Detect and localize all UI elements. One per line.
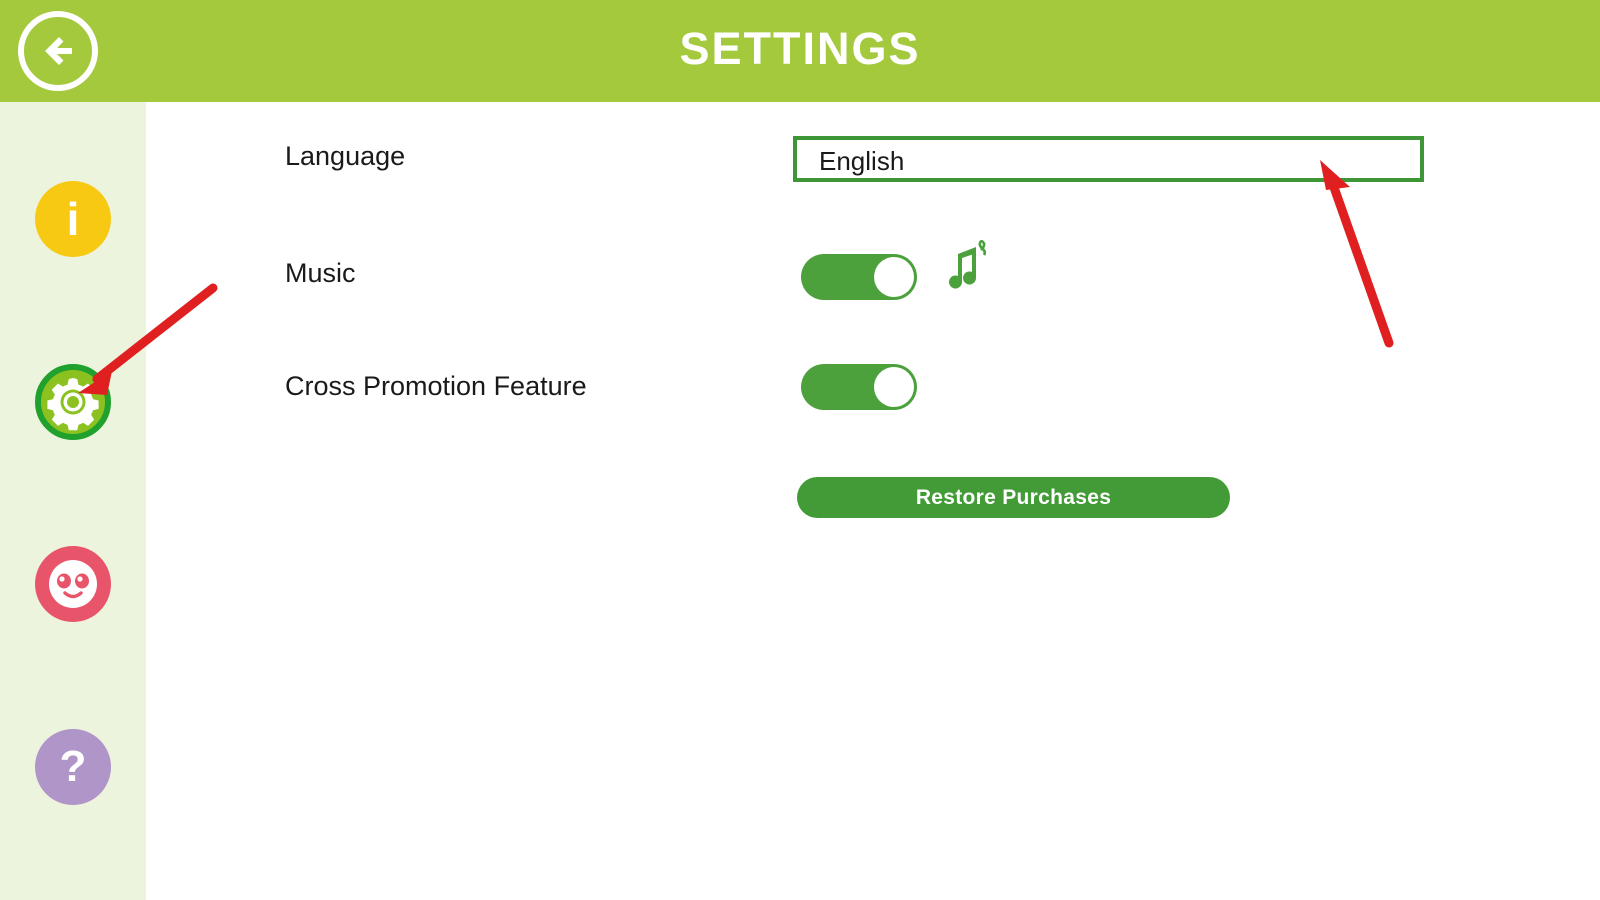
info-icon: i (35, 181, 111, 257)
sidebar-item-info[interactable]: i (29, 175, 117, 263)
page-title: SETTINGS (0, 23, 1600, 75)
language-select[interactable]: English (793, 136, 1424, 182)
cross-promotion-toggle[interactable] (801, 364, 917, 410)
sidebar-item-settings[interactable] (29, 358, 117, 446)
gear-icon (35, 364, 111, 440)
music-note-icon (934, 232, 998, 296)
question-mark-icon: ? (35, 729, 111, 805)
music-toggle-knob (874, 257, 914, 297)
language-value: English (819, 146, 904, 177)
cross-promotion-toggle-knob (874, 367, 914, 407)
app-root: SETTINGS i (0, 0, 1600, 900)
smiley-face-icon (35, 546, 111, 622)
cross-promotion-label: Cross Promotion Feature (285, 371, 587, 402)
sidebar: i (0, 102, 146, 900)
language-label: Language (285, 141, 405, 172)
info-icon-glyph: i (35, 181, 111, 257)
sidebar-item-characters[interactable] (29, 540, 117, 628)
music-toggle[interactable] (801, 254, 917, 300)
sidebar-item-help[interactable]: ? (29, 723, 117, 811)
question-mark-glyph: ? (35, 729, 111, 805)
music-label: Music (285, 258, 356, 289)
restore-purchases-button[interactable]: Restore Purchases (797, 477, 1230, 518)
header-bar: SETTINGS (0, 0, 1600, 102)
